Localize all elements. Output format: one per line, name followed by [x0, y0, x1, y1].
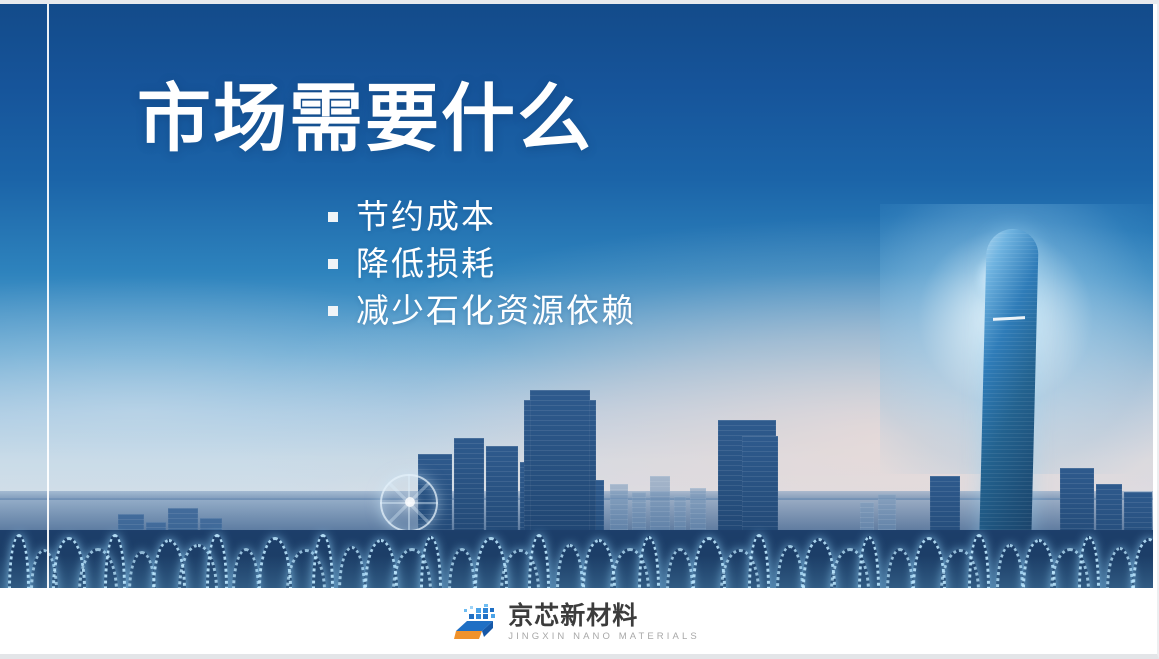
logo-name-en: JINGXIN NANO MATERIALS — [508, 632, 700, 642]
list-item: 节约成本 — [328, 193, 636, 240]
logo-name-cn: 京芯新材料 — [508, 604, 700, 629]
presentation-slide: 市场需要什么 节约成本 降低损耗 减少石化资源依赖 — [0, 0, 1159, 659]
left-accent-rule — [47, 4, 49, 588]
light-arc-pattern — [0, 516, 1153, 588]
square-bullet-icon — [328, 212, 338, 222]
company-logo: 京芯新材料 JINGXIN NANO MATERIALS — [453, 604, 700, 642]
bullet-list: 节约成本 降低损耗 减少石化资源依赖 — [328, 193, 636, 334]
bullet-label: 节约成本 — [356, 200, 496, 233]
jingxin-logo-mark-icon — [453, 604, 499, 642]
square-bullet-icon — [328, 259, 338, 269]
ferris-wheel-hub — [405, 497, 415, 507]
logo-text-block: 京芯新材料 JINGXIN NANO MATERIALS — [508, 604, 700, 642]
slide-background-image: 市场需要什么 节约成本 降低损耗 减少石化资源依赖 — [0, 4, 1153, 588]
bullet-label: 降低损耗 — [356, 247, 496, 280]
square-bullet-icon — [328, 306, 338, 316]
slide-title: 市场需要什么 — [137, 82, 593, 156]
bullet-label: 减少石化资源依赖 — [356, 294, 636, 327]
list-item: 降低损耗 — [328, 240, 636, 287]
slide-footer: 京芯新材料 JINGXIN NANO MATERIALS — [0, 592, 1153, 654]
curved-skyscraper — [979, 229, 1039, 544]
list-item: 减少石化资源依赖 — [328, 287, 636, 334]
